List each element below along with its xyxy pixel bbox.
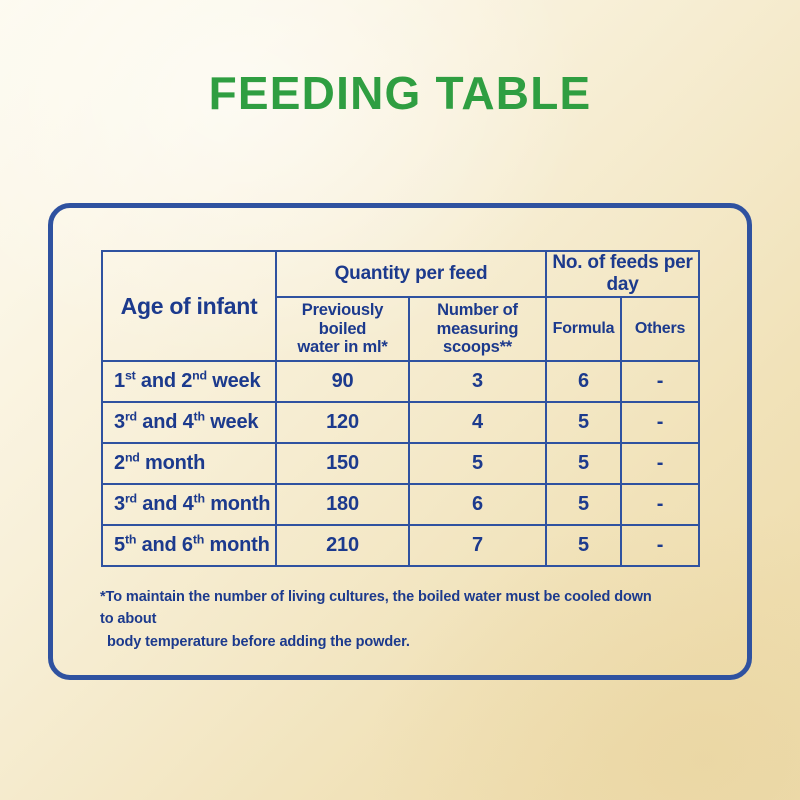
cell-age-of-infant: 1st and 2nd week (102, 361, 276, 402)
table-row: 5th and 6th month 210 7 5 - (102, 525, 699, 566)
cell-formula: 5 (546, 484, 621, 525)
age-conjunction: and (137, 493, 183, 515)
age-unit: month (204, 534, 269, 556)
cell-others: - (621, 443, 699, 484)
cell-water-ml: 120 (276, 402, 409, 443)
cell-scoops: 4 (409, 402, 546, 443)
cell-water-ml: 180 (276, 484, 409, 525)
age-number-2: 4 (183, 493, 194, 515)
cell-others: - (621, 484, 699, 525)
page-title: FEEDING TABLE (0, 66, 800, 120)
cell-age-of-infant: 3rd and 4th week (102, 402, 276, 443)
header-scoops-line1: Number of (437, 301, 518, 319)
footnote-line-2: body temperature before adding the powde… (100, 631, 660, 653)
cell-water-ml: 150 (276, 443, 409, 484)
age-unit: week (207, 370, 260, 392)
age-conjunction: and (137, 411, 183, 433)
age-ordinal-2: nd (192, 368, 207, 382)
cell-others: - (621, 402, 699, 443)
footnote: *To maintain the number of living cultur… (100, 586, 660, 653)
age-ordinal-1: rd (125, 409, 137, 423)
header-water-line1: Previously boiled (302, 301, 383, 338)
header-age-of-infant: Age of infant (102, 251, 276, 361)
header-number-of-scoops: Number of measuring scoops** (409, 297, 546, 361)
footnote-line-1: *To maintain the number of living cultur… (100, 589, 652, 627)
age-ordinal-1: th (125, 532, 136, 546)
cell-scoops: 7 (409, 525, 546, 566)
header-feeds-per-day: No. of feeds per day (546, 251, 699, 297)
age-number-1: 1 (114, 370, 125, 392)
age-ordinal-2: th (194, 409, 205, 423)
age-unit: month (140, 452, 205, 474)
cell-formula: 5 (546, 525, 621, 566)
table-row: 3rd and 4th month 180 6 5 - (102, 484, 699, 525)
cell-age-of-infant: 3rd and 4th month (102, 484, 276, 525)
header-water-line2: water in ml* (297, 338, 387, 356)
cell-age-of-infant: 5th and 6th month (102, 525, 276, 566)
table-header-row-group: Age of infant Quantity per feed No. of f… (102, 251, 699, 297)
header-formula: Formula (546, 297, 621, 361)
feeding-table: Age of infant Quantity per feed No. of f… (101, 250, 700, 567)
cell-scoops: 3 (409, 361, 546, 402)
table-row: 3rd and 4th week 120 4 5 - (102, 402, 699, 443)
age-ordinal-2: th (194, 491, 205, 505)
cell-formula: 6 (546, 361, 621, 402)
cell-scoops: 6 (409, 484, 546, 525)
age-ordinal-2: th (193, 532, 204, 546)
cell-water-ml: 210 (276, 525, 409, 566)
cell-water-ml: 90 (276, 361, 409, 402)
table-header: Age of infant Quantity per feed No. of f… (102, 251, 699, 361)
age-number-1: 2 (114, 452, 125, 474)
cell-others: - (621, 525, 699, 566)
age-conjunction: and (136, 370, 182, 392)
header-scoops-line2: measuring scoops** (437, 320, 519, 357)
age-number-1: 5 (114, 534, 125, 556)
header-quantity-per-feed: Quantity per feed (276, 251, 546, 297)
header-previously-boiled-water: Previously boiled water in ml* (276, 297, 409, 361)
table-body: 1st and 2nd week 90 3 6 - 3rd and 4th we… (102, 361, 699, 566)
cell-age-of-infant: 2nd month (102, 443, 276, 484)
age-number-2: 6 (182, 534, 193, 556)
age-ordinal-1: st (125, 368, 136, 382)
age-number-1: 3 (114, 411, 125, 433)
cell-scoops: 5 (409, 443, 546, 484)
age-unit: month (205, 493, 270, 515)
age-number-2: 2 (181, 370, 192, 392)
age-ordinal-1: rd (125, 491, 137, 505)
table-row: 1st and 2nd week 90 3 6 - (102, 361, 699, 402)
table-row: 2nd month 150 5 5 - (102, 443, 699, 484)
age-number-1: 3 (114, 493, 125, 515)
age-number-2: 4 (183, 411, 194, 433)
header-others: Others (621, 297, 699, 361)
cell-formula: 5 (546, 443, 621, 484)
cell-others: - (621, 361, 699, 402)
age-unit: week (205, 411, 258, 433)
age-conjunction: and (136, 534, 182, 556)
cell-formula: 5 (546, 402, 621, 443)
age-ordinal-1: nd (125, 450, 140, 464)
